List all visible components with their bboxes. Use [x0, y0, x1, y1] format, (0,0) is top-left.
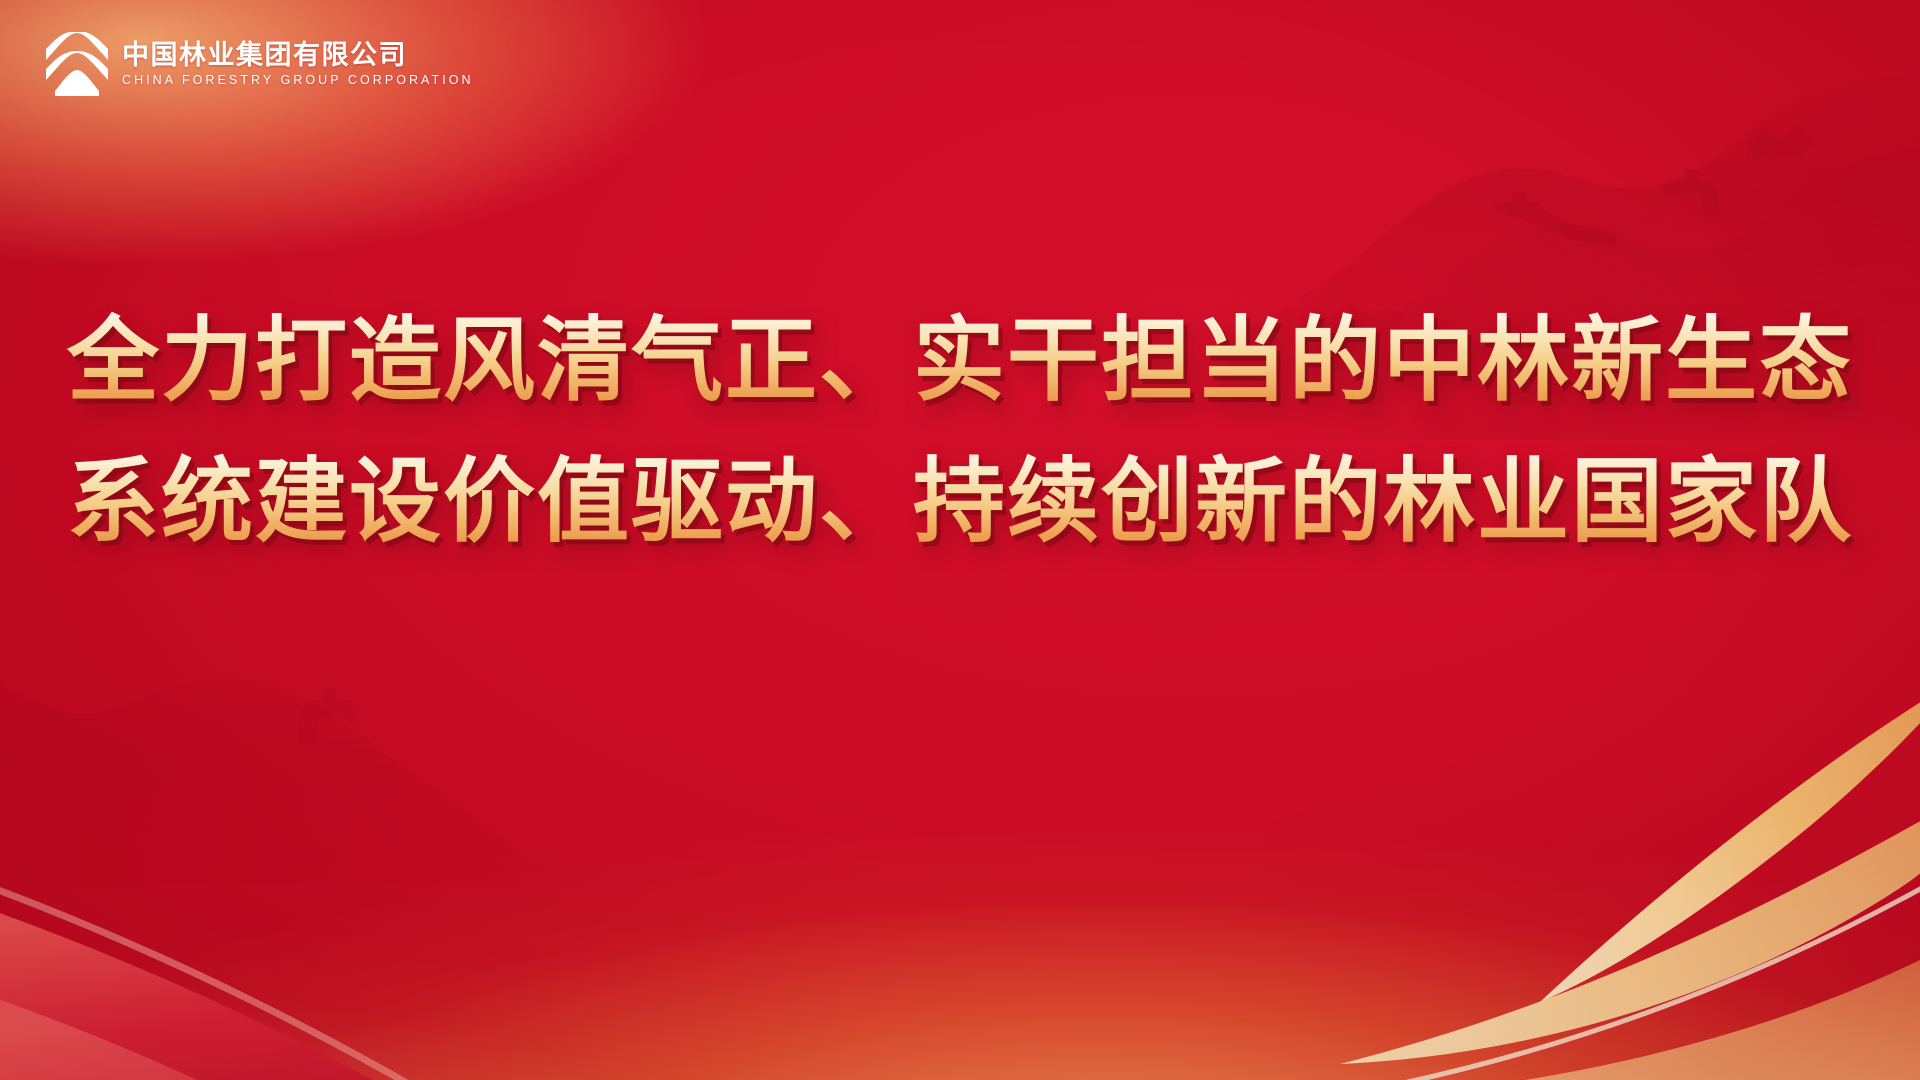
pagoda-mountain-chevron-icon: [46, 32, 108, 96]
golden-swoosh-ribbons-icon: [940, 650, 1920, 1080]
bottom-warm-glow: [0, 560, 1920, 1080]
brand-logo-lockup[interactable]: 中国林业集团有限公司 CHINA FORESTRY GROUP CORPORAT…: [46, 32, 474, 96]
headline-line-1: 全力打造风清气正、实干担当的中林新生态: [42, 296, 1878, 427]
great-wall-texture-left-icon: [0, 560, 560, 890]
brand-name-cn: 中国林业集团有限公司: [122, 42, 474, 69]
brand-name-en: CHINA FORESTRY GROUP CORPORATION: [122, 74, 474, 87]
headline-block: 全力打造风清气正、实干担当的中林新生态 系统建设价值驱动、持续创新的林业国家队: [0, 296, 1920, 567]
red-satin-ribbon-icon: [0, 740, 940, 1080]
promotional-banner: 中国林业集团有限公司 CHINA FORESTRY GROUP CORPORAT…: [0, 0, 1920, 1080]
brand-wordmark: 中国林业集团有限公司 CHINA FORESTRY GROUP CORPORAT…: [122, 42, 474, 87]
headline-line-2: 系统建设价值驱动、持续创新的林业国家队: [42, 437, 1878, 568]
